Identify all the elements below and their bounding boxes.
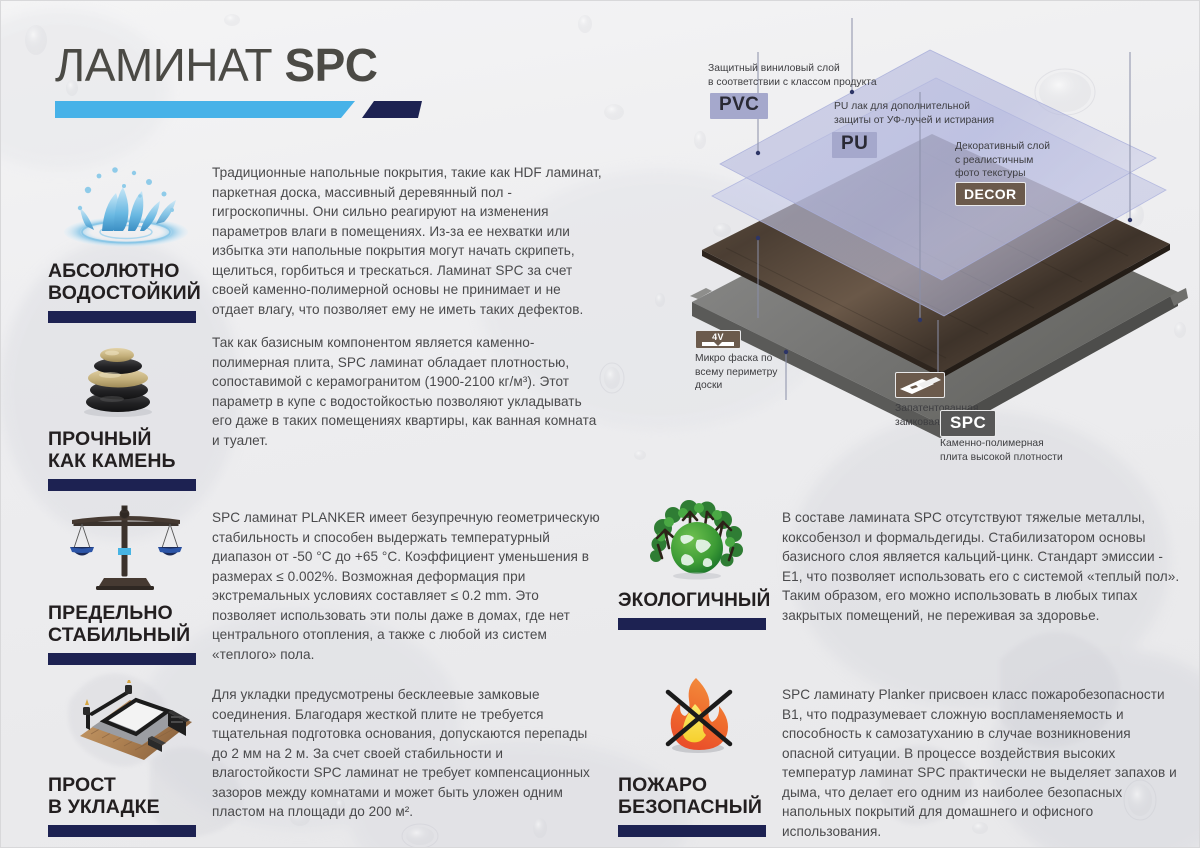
green-globe-icon [618,498,778,580]
bevel-note-line1: Микро фаска по [695,352,805,366]
no-fire-icon [618,668,778,764]
feature-title-line1: ПРОСТ [48,774,116,796]
feature-title-line1: ПРЕДЕЛЬНО [48,602,173,624]
feature-underline-rule [48,479,196,491]
feature-strong-as-stone: ПРОЧНЫЙКАК КАМЕНЬ [48,330,213,491]
decor-note-line1: Декоративный слой [955,140,1085,154]
feature-title-line1: АБСОЛЮТНО [48,260,180,282]
feature-title-line2: КАК КАМЕНЬ [48,450,176,472]
stacked-stones-icon [48,330,213,418]
feature-title-line1: ЭКОЛОГИЧНЫЙ [618,590,770,611]
pvc-note-line1: Защитный виниловый слой [708,62,908,76]
feature-fire-safe: ПОЖАРОБЕЗОПАСНЫЙ [618,668,778,837]
feature-ultra-stable: ПРЕДЕЛЬНОСТАБИЛЬНЫЙ [48,500,213,665]
feature-underline-rule [48,311,196,323]
floor-installation-icon [48,678,213,764]
pu-note-line2: защиты от УФ-лучей и истирания [834,114,1044,128]
spc-note-line2: плита высокой плотности [940,451,1100,465]
feature-underline-rule [48,653,196,665]
decor-note-line2: с реалистичным [955,154,1085,168]
feature-body-fire-safe: SPC ламинату Planker присвоен класс пожа… [782,685,1180,842]
pu-note: PU лак для дополнительной защиты от УФ-л… [834,100,1044,127]
title-rule-blue-bar [55,101,355,118]
feature-title: ПРЕДЕЛЬНОСТАБИЛЬНЫЙ [48,602,213,646]
bevel-note-line2: всему периметру [695,366,805,380]
feature-body-waterproof: Традиционные напольные покрытия, такие к… [212,163,604,320]
feature-easy-install: ПРОСТВ УКЛАДКЕ [48,678,213,837]
bevel-4v-badge: 4V [695,330,741,349]
title-underline-rule [55,101,475,118]
page-header: ЛАМИНАТ SPC [55,42,525,118]
feature-title: АБСОЛЮТНОВОДОСТОЙКИЙ [48,260,213,304]
feature-underline-rule [48,825,196,837]
pvc-note-line2: в соответствии с классом продукта [708,76,908,90]
pu-note-line1: PU лак для дополнительной [834,100,1044,114]
feature-title-line1: ПРОЧНЫЙ [48,428,152,450]
feature-body-eco-friendly: В составе ламината SPC отсутствуют тяжел… [782,508,1180,625]
bevel-note-line3: доски [695,379,805,393]
feature-title: ПОЖАРОБЕЗОПАСНЫЙ [618,774,778,818]
water-splash-icon [48,158,213,250]
feature-underline-rule [618,825,766,837]
svg-text:4V: 4V [712,332,724,342]
spc-note-line1: Каменно-полимерная [940,437,1100,451]
feature-body-easy-install: Для укладки предусмотрены бесклеевые зам… [212,685,604,822]
feature-underline-rule [618,618,766,630]
pu-badge: PU [832,132,877,158]
bevel-note: Микро фаска по всему периметру доски [695,352,805,393]
feature-title: ПРОЧНЫЙКАК КАМЕНЬ [48,428,213,472]
feature-title-line2: БЕЗОПАСНЫЙ [618,796,762,818]
feature-title-line2: СТАБИЛЬНЫЙ [48,624,190,646]
feature-title: ЭКОЛОГИЧНЫЙ [618,590,778,611]
decor-note: Декоративный слой с реалистичным фото те… [955,140,1085,181]
spc-layer-diagram: Защитный виниловый слой в соответствии с… [630,0,1200,480]
click-lock-icon [895,372,945,398]
decor-note-line3: фото текстуры [955,167,1085,181]
feature-title-line2: ВОДОСТОЙКИЙ [48,282,201,304]
feature-body-strong-as-stone: Так как базисным компонентом является ка… [212,333,604,450]
feature-title-line2: В УКЛАДКЕ [48,796,160,818]
spc-badge: SPC [940,410,996,437]
feature-body-ultra-stable: SPC ламинат PLANKER имеет безупречную ге… [212,508,604,665]
feature-eco-friendly: ЭКОЛОГИЧНЫЙ [618,498,778,630]
spc-note: Каменно-полимерная плита высокой плотнос… [940,437,1100,464]
pvc-badge: PVC [710,93,768,119]
feature-title-line1: ПОЖАРО [618,774,707,796]
title-rule-navy-bar [362,101,422,118]
balance-scales-icon [48,500,213,592]
page-title-accent: SPC [284,39,377,91]
feature-title: ПРОСТВ УКЛАДКЕ [48,774,213,818]
pvc-note: Защитный виниловый слой в соответствии с… [708,62,908,89]
decor-badge: DECOR [955,182,1026,206]
page-title: ЛАМИНАТ SPC [55,42,525,88]
page-title-main: ЛАМИНАТ [55,39,272,91]
feature-waterproof: АБСОЛЮТНОВОДОСТОЙКИЙ [48,158,213,323]
